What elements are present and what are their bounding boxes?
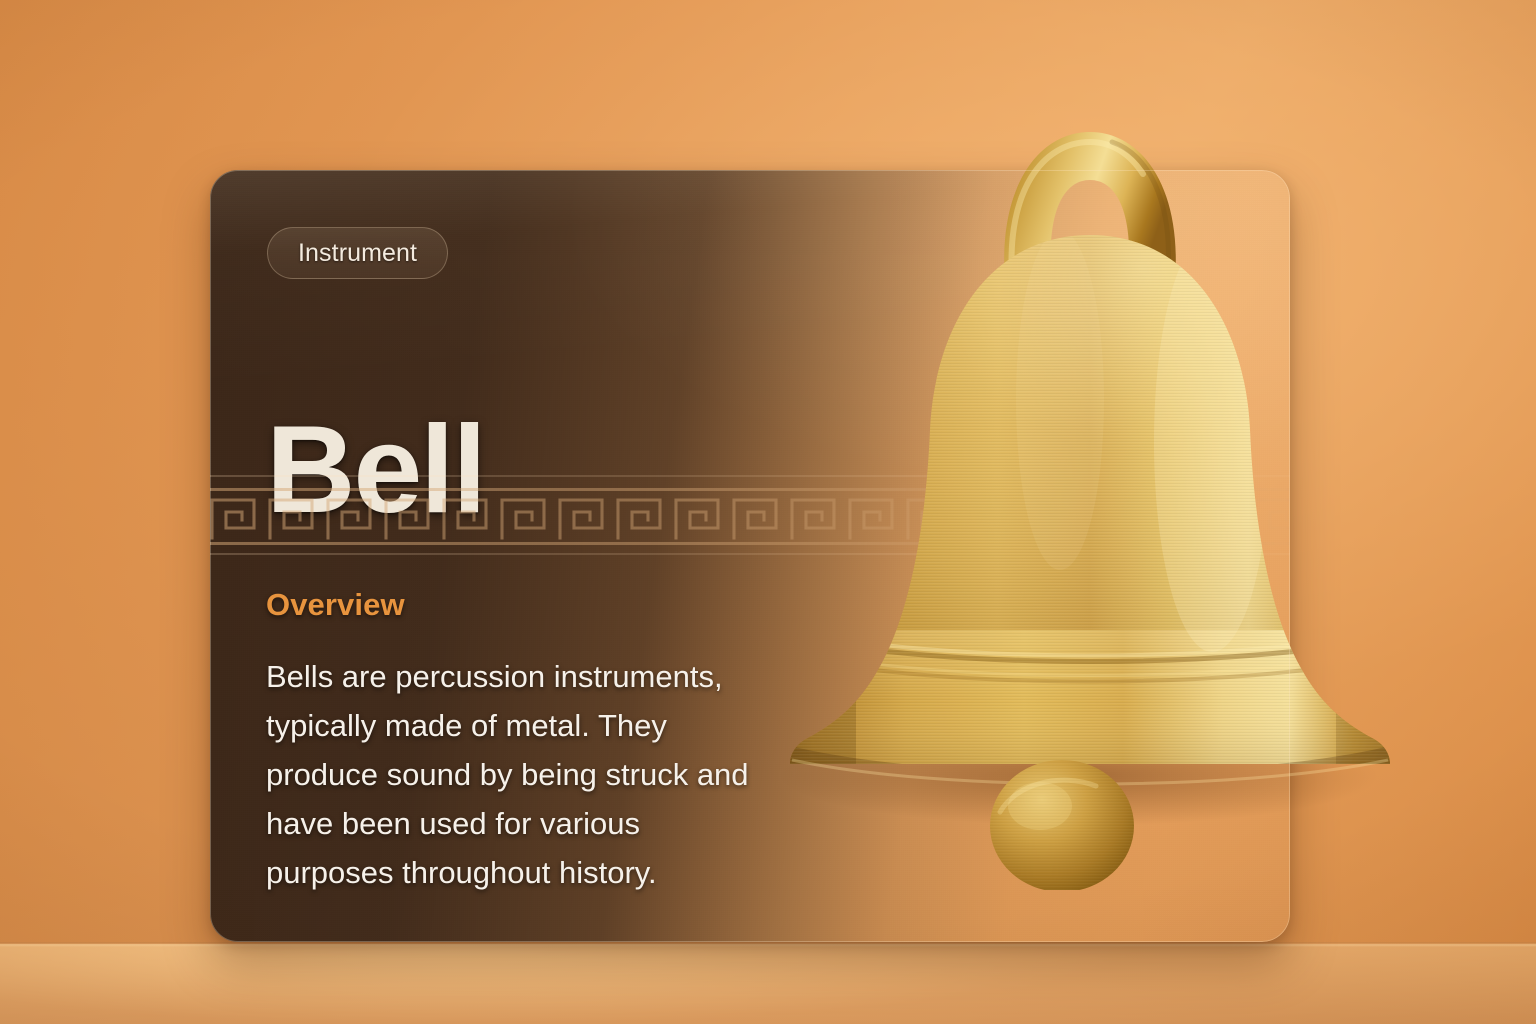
- bell-body: [760, 210, 1420, 790]
- bell-clapper: [990, 760, 1134, 890]
- bell-illustration: [760, 70, 1420, 890]
- floor-horizon-line: [0, 942, 1536, 947]
- category-badge-label: Instrument: [298, 239, 417, 268]
- category-badge[interactable]: Instrument: [267, 227, 448, 279]
- background-floor: [0, 944, 1536, 1024]
- overview-body-text: Bells are percussion instruments, typica…: [266, 652, 766, 897]
- overview-heading: Overview: [266, 587, 405, 623]
